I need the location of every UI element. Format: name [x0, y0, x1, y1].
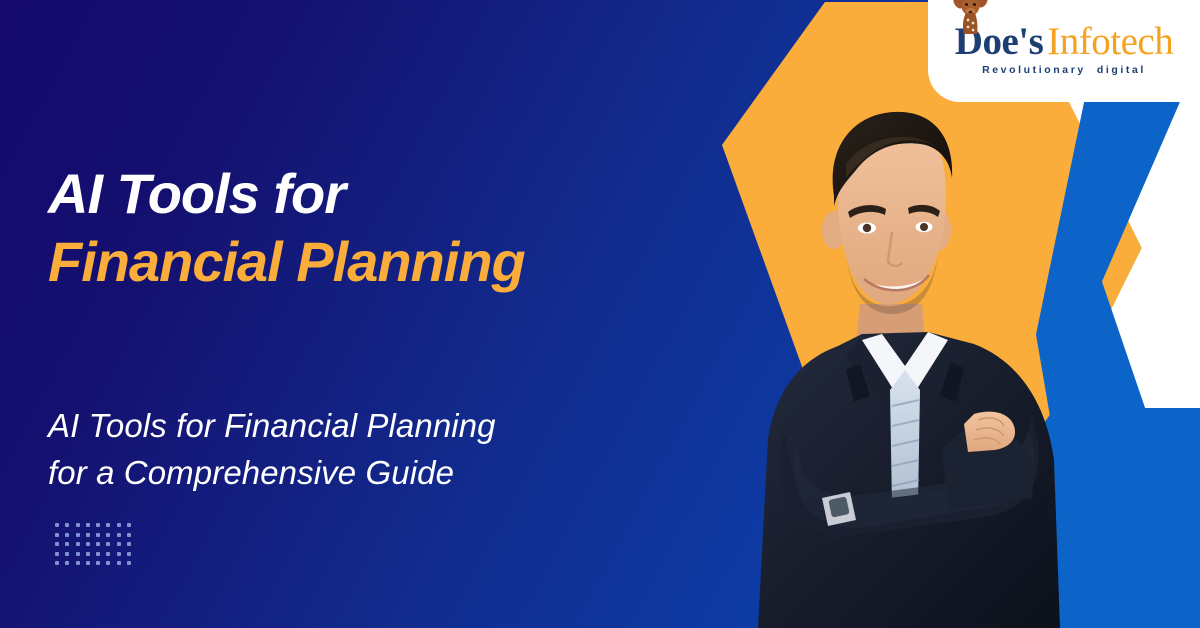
logo-card[interactable]: Doe's Infotech Revolutionary digital: [928, 0, 1200, 102]
logo-wordmark: Doe's Infotech: [955, 22, 1173, 61]
subheadline-line-2: for a Comprehensive Guide: [48, 450, 728, 497]
headline-line-2: Financial Planning: [48, 228, 728, 296]
promo-banner: AI Tools for Financial Planning AI Tools…: [0, 0, 1200, 628]
logo-brand-secondary: Infotech: [1047, 22, 1173, 61]
logo-tagline-part2: digital: [1097, 64, 1146, 76]
subheadline-line-1: AI Tools for Financial Planning: [48, 403, 728, 450]
subheadline: AI Tools for Financial Planning for a Co…: [48, 403, 728, 497]
headline-line-1: AI Tools for: [48, 160, 728, 228]
deer-fawn-icon: [949, 0, 993, 34]
headline: AI Tools for Financial Planning: [48, 160, 728, 297]
logo-tagline: Revolutionary digital: [982, 64, 1146, 76]
businessman-photo: [742, 108, 1082, 628]
dot-grid-pattern: [55, 523, 137, 571]
logo-tagline-part1: Revolutionary: [982, 64, 1086, 76]
